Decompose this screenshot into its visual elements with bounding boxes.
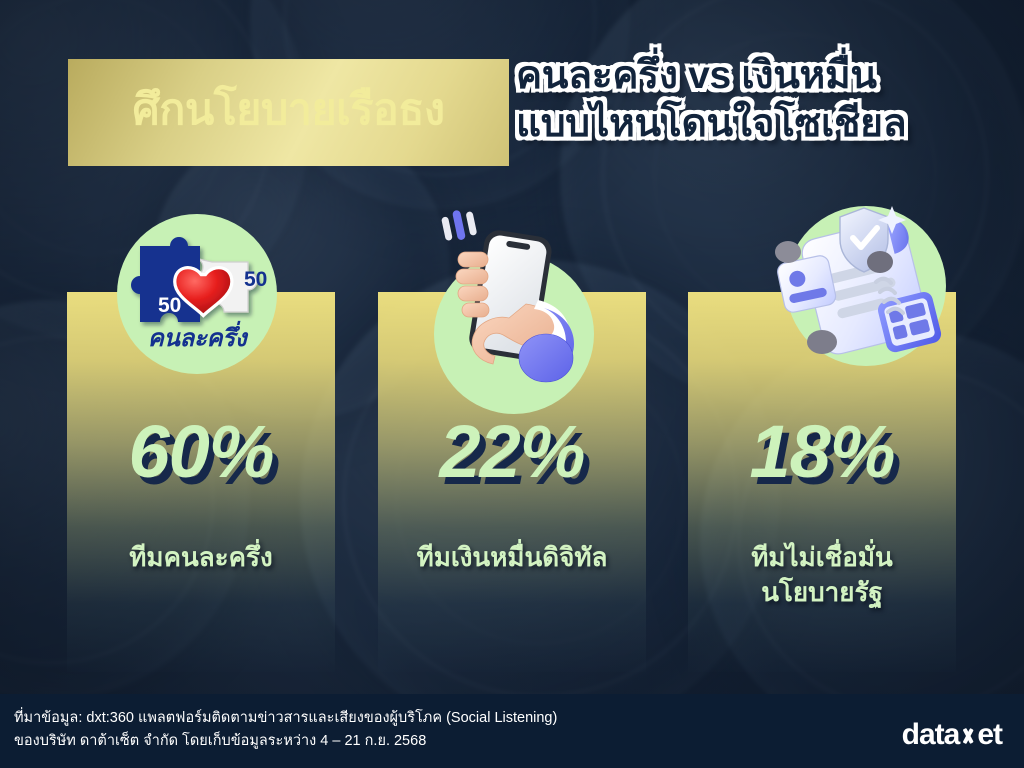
khon-la-khrueng-logo-label: คนละครึ่ง [117, 318, 277, 357]
brand-x-icon [960, 728, 976, 744]
dataxet-logo: data et [902, 718, 1002, 752]
stat-columns: 50 50 คนละครึ่ง [0, 0, 1024, 768]
source-note: ที่มาข้อมูล: dxt:360 แพลตฟอร์มติดตามข่าว… [14, 707, 557, 754]
document-shield-check-icon [770, 200, 960, 375]
stat-percent-1: 60% [67, 415, 335, 489]
stat-caption-3: ทีมไม่เชื่อมั่น นโยบายรัฐ [688, 540, 956, 610]
stat-percent-2: 22% [378, 415, 646, 489]
brand-text-part1: data [902, 718, 960, 752]
footer-bar: ที่มาข้อมูล: dxt:360 แพลตฟอร์มติดตามข่าว… [0, 694, 1024, 768]
stat-caption-2: ทีมเงินหมื่นดิจิทัล [378, 540, 646, 575]
infographic-canvas: ศึกนโยบายเรือธง คนละครึ่ง vs เงินหมื่น แ… [0, 0, 1024, 768]
puzzle-left-value: 50 [158, 294, 181, 317]
stat-caption-1: ทีมคนละครึ่ง [67, 540, 335, 575]
puzzle-right-value: 50 [244, 268, 267, 291]
hand-holding-smartphone-icon [418, 208, 608, 393]
stat-percent-3: 18% [688, 415, 956, 489]
brand-text-part2: et [977, 718, 1002, 752]
